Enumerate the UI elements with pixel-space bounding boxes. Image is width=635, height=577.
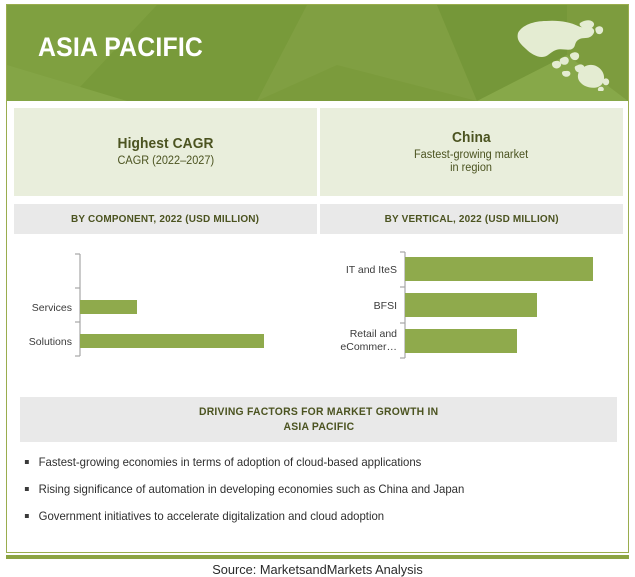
driving-factors-list: Fastest-growing economies in terms of ad… <box>20 456 617 524</box>
band-header-label: BY COMPONENT, 2022 (USD MILLION) <box>71 213 259 225</box>
band-header-by-vertical: BY VERTICAL, 2022 (USD MILLION) <box>320 204 623 234</box>
page-title: ASIA PACIFIC <box>38 32 203 63</box>
highlight-title: China <box>452 130 491 146</box>
list-item: Government initiatives to accelerate dig… <box>20 510 605 524</box>
column-by-vertical: China Fastest-growing market in region B… <box>320 101 623 376</box>
driving-factors-header-line1: DRIVING FACTORS FOR MARKET GROWTH IN <box>199 405 438 420</box>
bar-bfsi <box>405 293 537 317</box>
bullet-square-icon <box>25 487 29 491</box>
bar-services <box>80 300 137 314</box>
list-item-text: Rising significance of automation in dev… <box>39 483 465 496</box>
driving-factors-header: DRIVING FACTORS FOR MARKET GROWTH IN ASI… <box>20 397 617 442</box>
chart-by-vertical: IT and IteS BFSI Retail and eCommer… <box>320 246 623 376</box>
list-item-text: Fastest-growing economies in terms of ad… <box>39 456 422 469</box>
bar-retail-and-ecommerce <box>405 329 517 353</box>
bar-label-retail-line2: eCommer… <box>340 341 397 353</box>
infographic-card: ASIA PACIFIC <box>6 4 629 553</box>
bullet-square-icon <box>25 460 29 464</box>
list-item-text: Government initiatives to accelerate dig… <box>39 510 384 523</box>
list-item: Fastest-growing economies in terms of ad… <box>20 456 605 470</box>
list-item: Rising significance of automation in dev… <box>20 483 605 497</box>
highlight-subtitle: CAGR (2022–2027) <box>117 155 214 168</box>
driving-factors-section: DRIVING FACTORS FOR MARKET GROWTH IN ASI… <box>20 397 617 537</box>
highlight-subtitle-line1: Fastest-growing market <box>414 149 528 162</box>
bar-label-it-and-ites: IT and IteS <box>346 264 397 276</box>
asia-pacific-map-icon <box>504 13 612 91</box>
highlight-box-china: China Fastest-growing market in region <box>320 108 623 196</box>
band-header-by-component: BY COMPONENT, 2022 (USD MILLION) <box>14 204 317 234</box>
source-note: Source: MarketsandMarkets Analysis <box>0 562 635 577</box>
highlight-box-highest-cagr: Highest CAGR CAGR (2022–2027) <box>14 108 317 196</box>
bar-label-services: Services <box>32 302 72 314</box>
column-by-component: Highest CAGR CAGR (2022–2027) BY COMPONE… <box>14 101 317 376</box>
chart-by-component: Services Solutions <box>14 246 317 376</box>
bar-label-bfsi: BFSI <box>374 300 397 312</box>
bar-label-retail-line1: Retail and <box>350 328 397 340</box>
infographic-canvas: ASIA PACIFIC <box>0 0 635 577</box>
bar-it-and-ites <box>405 257 593 281</box>
header-banner: ASIA PACIFIC <box>7 5 628 101</box>
highlight-title: Highest CAGR <box>117 136 213 152</box>
bar-solutions <box>80 334 264 348</box>
band-header-label: BY VERTICAL, 2022 (USD MILLION) <box>384 213 558 225</box>
driving-factors-header-line2: ASIA PACIFIC <box>283 420 354 435</box>
highlight-subtitle-line2: in region <box>451 162 493 175</box>
bullet-square-icon <box>25 514 29 518</box>
chart-by-vertical-svg: IT and IteS BFSI Retail and eCommer… <box>320 246 623 376</box>
bar-label-solutions: Solutions <box>29 336 72 348</box>
chart-by-component-svg: Services Solutions <box>14 246 317 376</box>
footer-rule <box>6 555 629 559</box>
